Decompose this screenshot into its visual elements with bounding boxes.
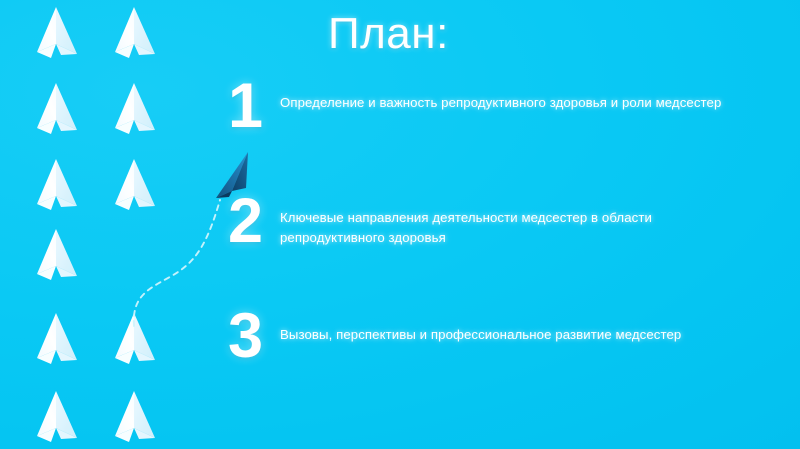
- paper-plane-icon: [34, 312, 80, 372]
- paper-plane-icon: [34, 82, 80, 142]
- list-item-number: 3: [228, 308, 276, 366]
- list-item-label: Вызовы, перспективы и профессиональное р…: [276, 312, 750, 345]
- paper-plane-icon: [34, 390, 80, 449]
- list-item: 1 Определение и важность репродуктивного…: [228, 82, 773, 197]
- list-item-label: Определение и важность репродуктивного з…: [276, 82, 750, 113]
- paper-plane-icon: [34, 6, 80, 66]
- list-item-number: 1: [228, 78, 276, 136]
- paper-plane-icon: [112, 6, 158, 66]
- paper-plane-icon: [34, 228, 80, 288]
- paper-plane-icon: [34, 158, 80, 218]
- plan-list: 1 Определение и важность репродуктивного…: [228, 82, 773, 427]
- list-item: 2 Ключевые направления деятельности медс…: [228, 197, 773, 312]
- paper-plane-icon: [112, 82, 158, 142]
- list-item-label: Ключевые направления деятельности медсес…: [276, 197, 750, 249]
- list-item: 3 Вызовы, перспективы и профессиональное…: [228, 312, 773, 427]
- paper-plane-icon: [112, 158, 158, 218]
- paper-plane-icon: [112, 312, 158, 372]
- paper-plane-icon: [112, 390, 158, 449]
- page-title: План:: [328, 11, 449, 58]
- dashed-trail-icon: [120, 186, 240, 326]
- list-item-number: 2: [228, 193, 276, 251]
- presentation-slide: План: 1 Определение и важность репродукт…: [0, 0, 800, 449]
